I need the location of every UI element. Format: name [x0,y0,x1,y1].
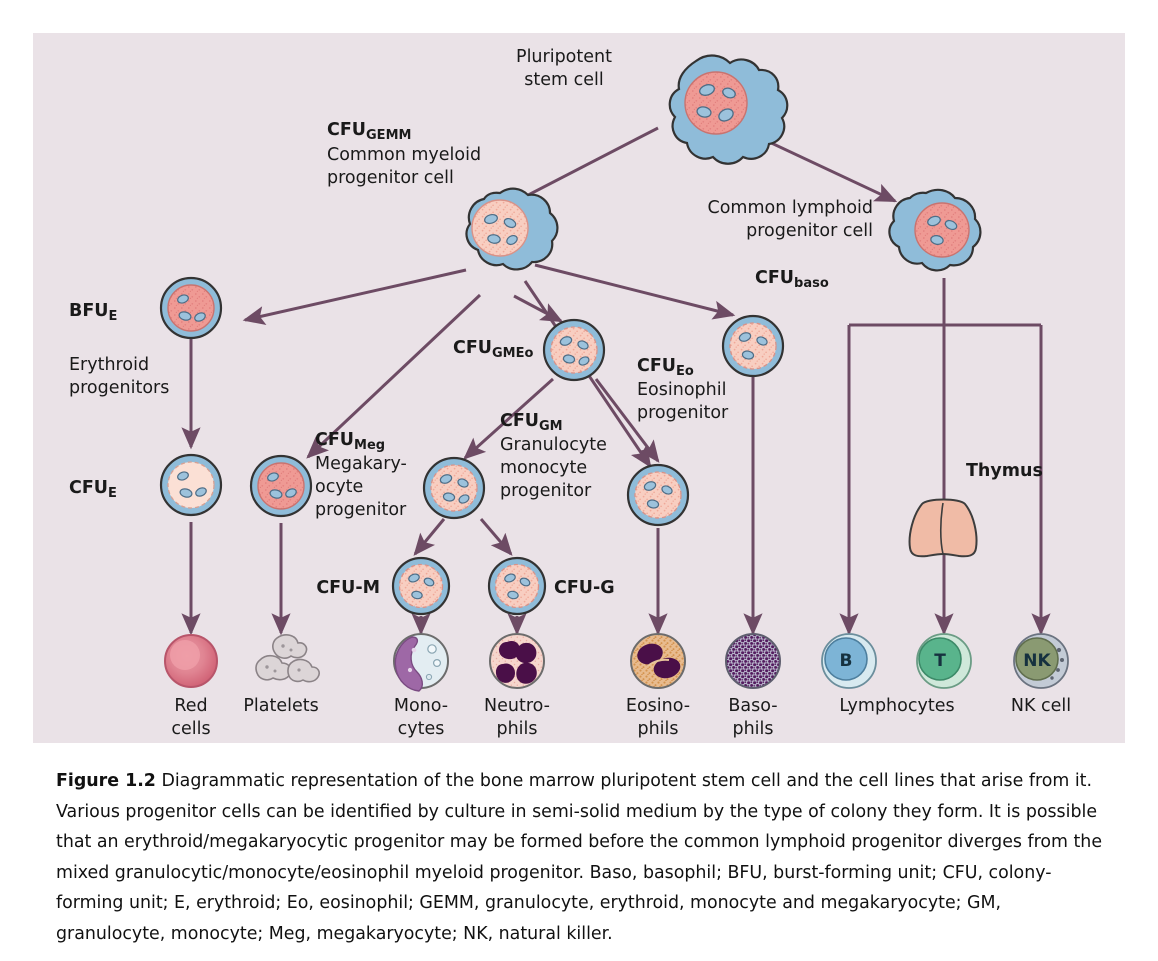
cfu-gm-line3: progenitor [500,481,592,501]
basophils-label-line2: phils [732,719,773,739]
red-cells-label-line2: cells [171,719,210,739]
cfu-baso-label: CFUbaso [755,268,829,291]
figure-number: Figure 1.2 [56,771,156,791]
red-cells-label-line1: Red [174,696,207,716]
cfu-gemm-abbrev: CFUGEMM [327,120,411,143]
terminal-platelets [256,635,319,682]
lymphoid-progenitor-line2: progenitor cell [746,221,873,241]
terminal-neutrophils [490,634,544,688]
lymphoid-bus [849,278,1041,325]
thymus-label: Thymus [966,461,1043,481]
lymphoid-progenitor-line1: Common lymphoid [707,198,873,218]
figure-caption: Figure 1.2 Diagrammatic representation o… [56,766,1108,949]
terminal-t-lymphocyte: T [917,634,971,688]
stem-cell-label-line1: Pluripotent [516,47,612,67]
cfu-gm-line2: monocyte [500,458,587,478]
eosinophils-label-line1: Eosino- [626,696,690,716]
cell-cfu-g [489,558,545,614]
cfu-meg-line1: Megakary- [315,454,407,474]
cell-cfu-eo [628,465,688,525]
terminal-monocytes [394,634,448,691]
cfu-meg-abbrev: CFUMeg [315,430,385,453]
figure-caption-text: Diagrammatic representation of the bone … [56,771,1102,944]
cfu-meg-line3: progenitor [315,500,407,520]
cfu-meg-line2: ocyte [315,477,363,497]
cfu-gemm-line2: progenitor cell [327,168,454,188]
cell-cfu-gemm [467,189,558,270]
cfu-gm-abbrev: CFUGM [500,411,563,434]
edge-gemm-to-cfubaso [535,265,733,315]
bfu-e-label: BFUE [69,301,117,324]
cell-cfu-m [393,558,449,614]
monocytes-label-line1: Mono- [394,696,448,716]
cfu-g-label: CFU-G [554,578,615,598]
terminal-red-cells [165,635,217,687]
hematopoiesis-diagram: Pluripotent stem cell CFUGEMM Common mye… [33,33,1125,743]
terminal-eosinophils [631,634,685,688]
cfu-e-label: CFUE [69,478,117,501]
thymus-organ [910,500,977,557]
cfu-eo-line2: progenitor [637,403,729,423]
erythroid-progenitors-line1: Erythroid [69,355,149,375]
figure-page: Pluripotent stem cell CFUGEMM Common mye… [0,0,1158,961]
cfu-m-label: CFU-M [316,578,380,598]
terminal-b-lymphocyte: B [822,634,876,688]
edge-cfugm-to-cfug [481,519,511,554]
t-cell-letter: T [934,651,946,671]
cell-cfu-gm [424,458,484,518]
cfu-gm-line1: Granulocyte [500,435,607,455]
platelets-label: Platelets [243,696,318,716]
cfu-gmeo-label: CFUGMEo [453,338,534,361]
cfu-eo-abbrev: CFUEo [637,356,694,379]
cell-bfu-e [161,278,221,338]
terminal-basophils [726,634,780,688]
lymphocytes-label: Lymphocytes [839,696,954,716]
terminal-nk-cell: NK [1014,634,1068,688]
erythroid-progenitors-line2: progenitors [69,378,169,398]
cell-cfu-meg [251,456,311,516]
neutrophils-label-line1: Neutro- [484,696,550,716]
cell-cfu-baso [723,316,783,376]
nk-cell-label: NK cell [1011,696,1071,716]
stem-cell-label-line2: stem cell [524,70,603,90]
cell-common-lymphoid-progenitor [889,190,980,271]
cfu-gemm-line1: Common myeloid [327,145,481,165]
cell-cfu-e [161,455,221,515]
b-cell-letter: B [840,651,853,671]
monocytes-label-line2: cytes [398,719,445,739]
nk-cell-letter: NK [1023,651,1051,671]
eosinophils-label-line2: phils [637,719,678,739]
neutrophils-label-line2: phils [496,719,537,739]
cell-pluripotent-stem [670,55,787,163]
figure-panel: Pluripotent stem cell CFUGEMM Common mye… [33,33,1125,743]
edge-cfugm-to-cfum [415,519,444,554]
cfu-eo-line1: Eosinophil [637,380,726,400]
cell-cfu-gmeo [544,320,604,380]
edge-gemm-to-bfue [245,270,466,320]
basophils-label-line1: Baso- [728,696,777,716]
